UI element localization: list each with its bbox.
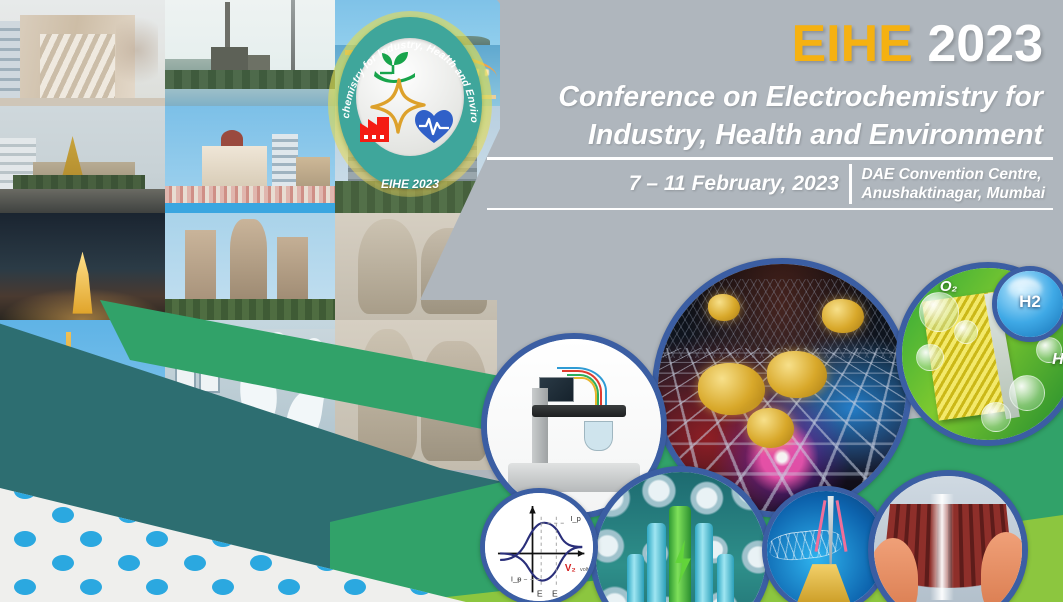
dot: [344, 579, 366, 595]
venue-line2: Anushaktinagar, Mumbai: [862, 184, 1045, 203]
title-divider-rule: [487, 157, 1053, 160]
event-acronym: EIHE: [791, 15, 912, 73]
dot: [184, 555, 206, 571]
dot: [52, 555, 74, 571]
event-acronym-line: EIHE 2023: [487, 18, 1053, 70]
hydrogen-label: H: [1052, 351, 1063, 369]
photo-library-building: Institute library building: [0, 0, 165, 106]
factory-icon: [358, 115, 392, 143]
dot: [146, 531, 168, 547]
cv-plot-svg: V₂ volt I_p I_p E E: [485, 493, 593, 601]
dot: [52, 507, 74, 523]
hydrogen-bubble-label: H2: [997, 292, 1063, 312]
svg-text:volt: volt: [580, 567, 589, 573]
event-venue: DAE Convention Centre, Anushaktinagar, M…: [862, 165, 1045, 204]
dot: [146, 579, 168, 595]
venue-line1: DAE Convention Centre,: [862, 165, 1045, 184]
dot: [80, 531, 102, 547]
dot: [250, 555, 272, 571]
conference-banner: Institute library building Research reac…: [0, 0, 1063, 602]
header-text-block: EIHE 2023 Conference on Electrochemistry…: [487, 18, 1053, 210]
photo-taj-gateway: Taj Mahal Palace and Gateway of India: [165, 106, 335, 213]
eihe-logo: Electrochemistry for Industry, Health an…: [320, 5, 500, 205]
svg-text:V₂: V₂: [565, 563, 576, 574]
circle-hydrogen-bubble: H2: [992, 266, 1063, 342]
svg-text:I_p: I_p: [570, 514, 581, 523]
heart-pulse-icon: [414, 109, 454, 145]
dot: [118, 555, 140, 571]
photo-cst-station: Chhatrapati Shivaji Terminus: [165, 213, 335, 320]
conference-title-line1: Conference on Electrochemistry for: [487, 78, 1043, 116]
photo-golden-pagoda: Global Vipassana Pagoda lit at night: [0, 213, 165, 320]
dot: [212, 579, 234, 595]
dot: [80, 579, 102, 595]
oxygen-label: O₂: [940, 278, 957, 295]
meta-separator-bar: [849, 164, 852, 204]
circle-flexible-solar-cell: Flexible solar cell held in hands: [868, 470, 1028, 602]
conference-title: Conference on Electrochemistry for Indus…: [487, 78, 1053, 154]
dot: [14, 531, 36, 547]
conference-title-line2: Industry, Health and Environment: [487, 116, 1043, 154]
circle-cyclic-voltammogram: V₂ volt I_p I_p E E Cyclic voltammogram …: [480, 488, 598, 602]
photo-walkeshwar-temple: Walkeshwar temple on the coast: [0, 106, 165, 213]
svg-text:E: E: [552, 589, 558, 599]
logo-year-label: EIHE 2023: [320, 177, 500, 191]
event-year: 2023: [927, 15, 1043, 73]
svg-text:E: E: [537, 589, 543, 599]
event-dates: 7 – 11 February, 2023: [629, 172, 839, 196]
photo-reactor-stacks: Research reactor with stacks: [165, 0, 335, 106]
dot: [278, 579, 300, 595]
meta-divider-rule: [487, 208, 1053, 211]
dot: [14, 579, 36, 595]
circle-batteries: Battery cells with energy bolt: [590, 466, 772, 602]
event-meta-row: 7 – 11 February, 2023 DAE Convention Cen…: [487, 164, 1053, 204]
svg-text:I_p: I_p: [511, 575, 521, 584]
